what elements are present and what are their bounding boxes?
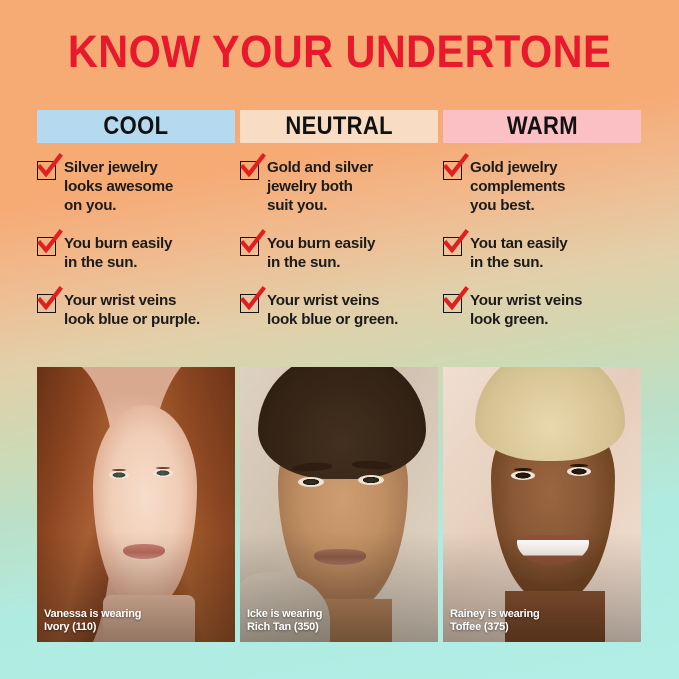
checkmark-icon[interactable] [37, 161, 56, 180]
list-item[interactable]: You burn easily in the sun. [37, 234, 235, 272]
photo-caption: Vanessa is wearing Ivory (110) [44, 608, 141, 634]
list-item[interactable]: Gold jewelry complements you best. [443, 158, 641, 215]
model-photo-row: Vanessa is wearing Ivory (110) Icke is w… [37, 367, 642, 642]
hair [475, 367, 625, 461]
column-header-cool: COOL [37, 110, 235, 143]
list-item-label: Your wrist veins look green. [470, 291, 582, 329]
list-item-label: You burn easily in the sun. [267, 234, 375, 272]
checkmark-icon[interactable] [443, 294, 462, 313]
column-header-warm-label: WARM [506, 110, 577, 143]
list-item-label: Silver jewelry looks awesome on you. [64, 158, 173, 215]
list-item[interactable]: Your wrist veins look blue or green. [240, 291, 438, 329]
model-photo-rainey: Rainey is wearing Toffee (375) [443, 367, 641, 642]
model-photo-icke: Icke is wearing Rich Tan (350) [240, 367, 438, 642]
list-item-label: Your wrist veins look blue or purple. [64, 291, 200, 329]
list-item-label: You tan easily in the sun. [470, 234, 568, 272]
eye-left [109, 471, 129, 479]
list-item[interactable]: Silver jewelry looks awesome on you. [37, 158, 235, 215]
eye-left [298, 477, 324, 487]
checklist-warm: Gold jewelry complements you best. You t… [443, 158, 641, 329]
list-item-label: Gold and silver jewelry both suit you. [267, 158, 373, 215]
column-neutral: NEUTRAL Gold and silver jewelry both sui… [240, 110, 438, 348]
list-item[interactable]: Your wrist veins look blue or purple. [37, 291, 235, 329]
list-item-label: Gold jewelry complements you best. [470, 158, 565, 215]
column-header-warm: WARM [443, 110, 641, 143]
column-header-neutral-label: NEUTRAL [285, 110, 393, 143]
column-header-cool-label: COOL [104, 110, 169, 143]
list-item-label: You burn easily in the sun. [64, 234, 172, 272]
eye-right [153, 469, 173, 477]
photo-caption: Icke is wearing Rich Tan (350) [247, 608, 322, 634]
eye-left [511, 471, 535, 480]
checkmark-icon[interactable] [240, 294, 259, 313]
eye-right [358, 475, 384, 485]
page-title: KNOW YOUR UNDERTONE [27, 26, 652, 78]
checkmark-icon[interactable] [37, 294, 56, 313]
model-photo-vanessa: Vanessa is wearing Ivory (110) [37, 367, 235, 642]
list-item[interactable]: Your wrist veins look green. [443, 291, 641, 329]
undertone-infographic: KNOW YOUR UNDERTONE COOL Silver jewelry … [0, 0, 679, 679]
column-warm: WARM Gold jewelry complements you best. … [443, 110, 641, 348]
checkmark-icon[interactable] [240, 161, 259, 180]
undertone-columns: COOL Silver jewelry looks awesome on you… [37, 110, 642, 348]
checklist-neutral: Gold and silver jewelry both suit you. Y… [240, 158, 438, 329]
list-item[interactable]: You tan easily in the sun. [443, 234, 641, 272]
column-header-neutral: NEUTRAL [240, 110, 438, 143]
hair [258, 367, 426, 479]
checkmark-icon[interactable] [443, 161, 462, 180]
list-item[interactable]: Gold and silver jewelry both suit you. [240, 158, 438, 215]
eye-right [567, 467, 591, 476]
photo-caption: Rainey is wearing Toffee (375) [450, 608, 540, 634]
column-cool: COOL Silver jewelry looks awesome on you… [37, 110, 235, 348]
list-item-label: Your wrist veins look blue or green. [267, 291, 398, 329]
checkmark-icon[interactable] [37, 237, 56, 256]
checkmark-icon[interactable] [240, 237, 259, 256]
checklist-cool: Silver jewelry looks awesome on you. You… [37, 158, 235, 329]
list-item[interactable]: You burn easily in the sun. [240, 234, 438, 272]
checkmark-icon[interactable] [443, 237, 462, 256]
